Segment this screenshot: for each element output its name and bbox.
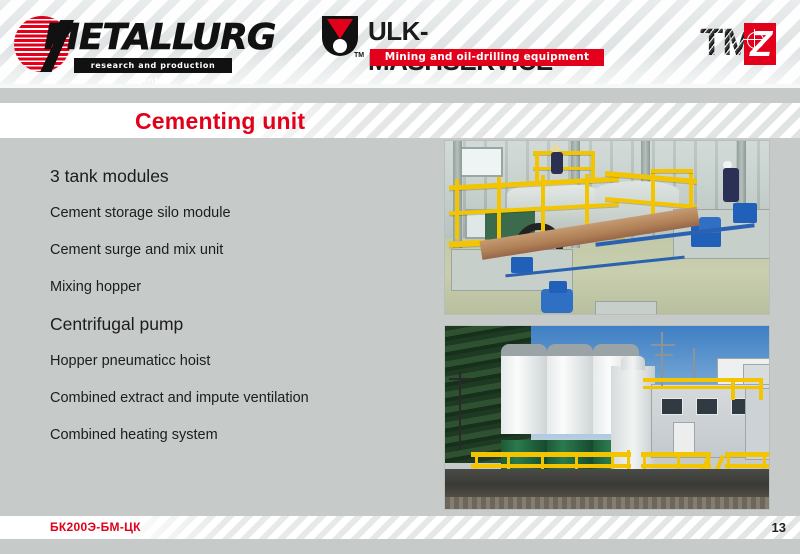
list-item: Hopper pneumaticc hoist xyxy=(50,343,430,380)
ulk-tagline: Mining and oil-drilling equipment xyxy=(370,49,604,66)
list-item: Mixing hopper xyxy=(50,269,430,306)
title-band xyxy=(0,103,800,138)
list-item: 3 tank modules xyxy=(50,158,430,195)
metallurg-tagline: research and production centre xyxy=(74,58,232,73)
metallurg-logo: METALLURG research and production centre xyxy=(14,12,234,74)
ulk-mashservice-logo: TM ULK-MASHSERVICE Mining and oil-drilli… xyxy=(320,16,610,72)
document-code: БК200Э-БМ-ЦК xyxy=(50,520,141,534)
slide-header: METALLURG research and production centre… xyxy=(0,0,800,88)
feature-list: 3 tank modules Cement storage silo modul… xyxy=(50,158,430,454)
list-item: Combined heating system xyxy=(50,417,430,454)
list-item: Cement surge and mix unit xyxy=(50,232,430,269)
page-title: Cementing unit xyxy=(135,108,305,135)
ulk-wordmark: ULK-MASHSERVICE xyxy=(368,16,610,76)
cementing-unit-site-photo xyxy=(444,325,770,510)
cementing-unit-interior-photo xyxy=(444,140,770,315)
tmz-logo: TM Z xyxy=(700,22,776,66)
slide: METALLURG research and production centre… xyxy=(0,0,800,554)
ulk-trademark-mark: TM xyxy=(354,52,364,59)
page-number: 13 xyxy=(772,520,786,535)
metallurg-wordmark: METALLURG xyxy=(44,18,275,58)
list-item: Combined extract and impute ventilation xyxy=(50,380,430,417)
list-item: Centrifugal pump xyxy=(50,306,430,343)
list-item: Cement storage silo module xyxy=(50,195,430,232)
crosshair-icon xyxy=(747,32,764,49)
